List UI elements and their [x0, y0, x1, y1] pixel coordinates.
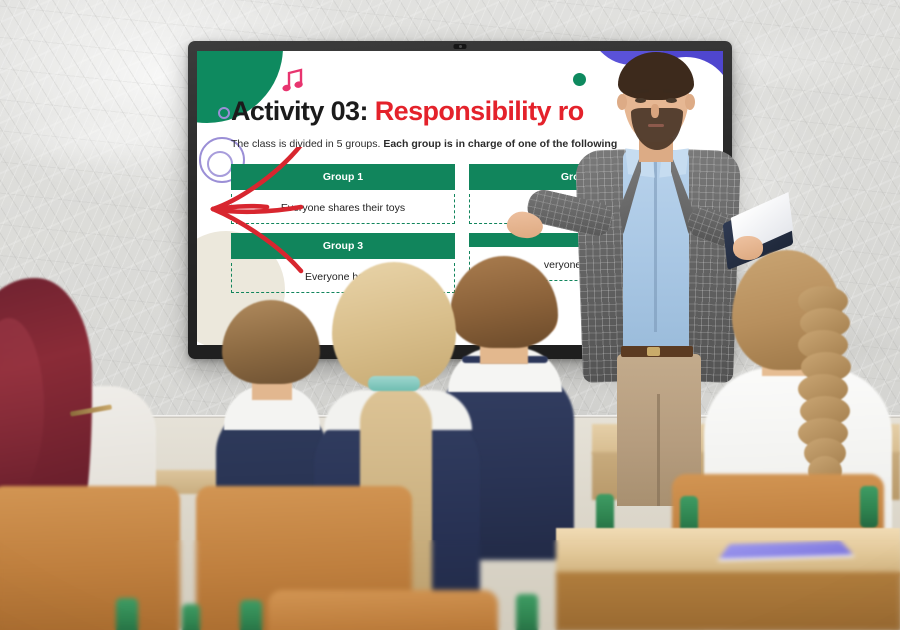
camera-icon: [454, 44, 467, 49]
group-task-1: Everyone shares their toys: [231, 194, 455, 224]
teacher-nose: [651, 104, 659, 118]
teacher-eye-right: [666, 98, 677, 103]
teacher-ear-right: [685, 94, 695, 110]
chair-post-1: [116, 598, 138, 630]
teacher-mouth: [648, 124, 664, 127]
teacher-eye-left: [635, 98, 646, 103]
chair-post-2: [240, 600, 262, 630]
teacher-hair: [618, 52, 694, 100]
chair-post-6: [860, 486, 878, 528]
chair-post-7: [182, 604, 200, 630]
desk-foreground-edge: [556, 572, 900, 630]
teacher-shirt-placket: [654, 162, 657, 332]
hair-tie: [368, 376, 420, 391]
teacher-ear-left: [617, 94, 627, 110]
chair-left: [0, 486, 180, 630]
classroom-scene: Activity 03: Responsibility ro The class…: [0, 0, 900, 630]
student-braid-girl-braid: [798, 286, 850, 476]
group-cell-1: Group 1 Everyone shares their toys: [231, 164, 455, 224]
slide-subtitle-plain: The class is divided in 5 groups.: [231, 138, 383, 150]
student-boy-left-hair: [222, 300, 320, 384]
chair-post-3: [516, 594, 538, 630]
chair-foreground: [268, 590, 498, 630]
slide-title-red: Responsibility ro: [368, 96, 584, 126]
teacher-belt-buckle: [647, 347, 660, 356]
student-ponytail-girl-head: [332, 262, 456, 390]
group-header-3: Group 3: [231, 233, 455, 259]
group-header-1: Group 1: [231, 164, 455, 190]
slide-title-dark: Activity 03:: [231, 96, 368, 126]
